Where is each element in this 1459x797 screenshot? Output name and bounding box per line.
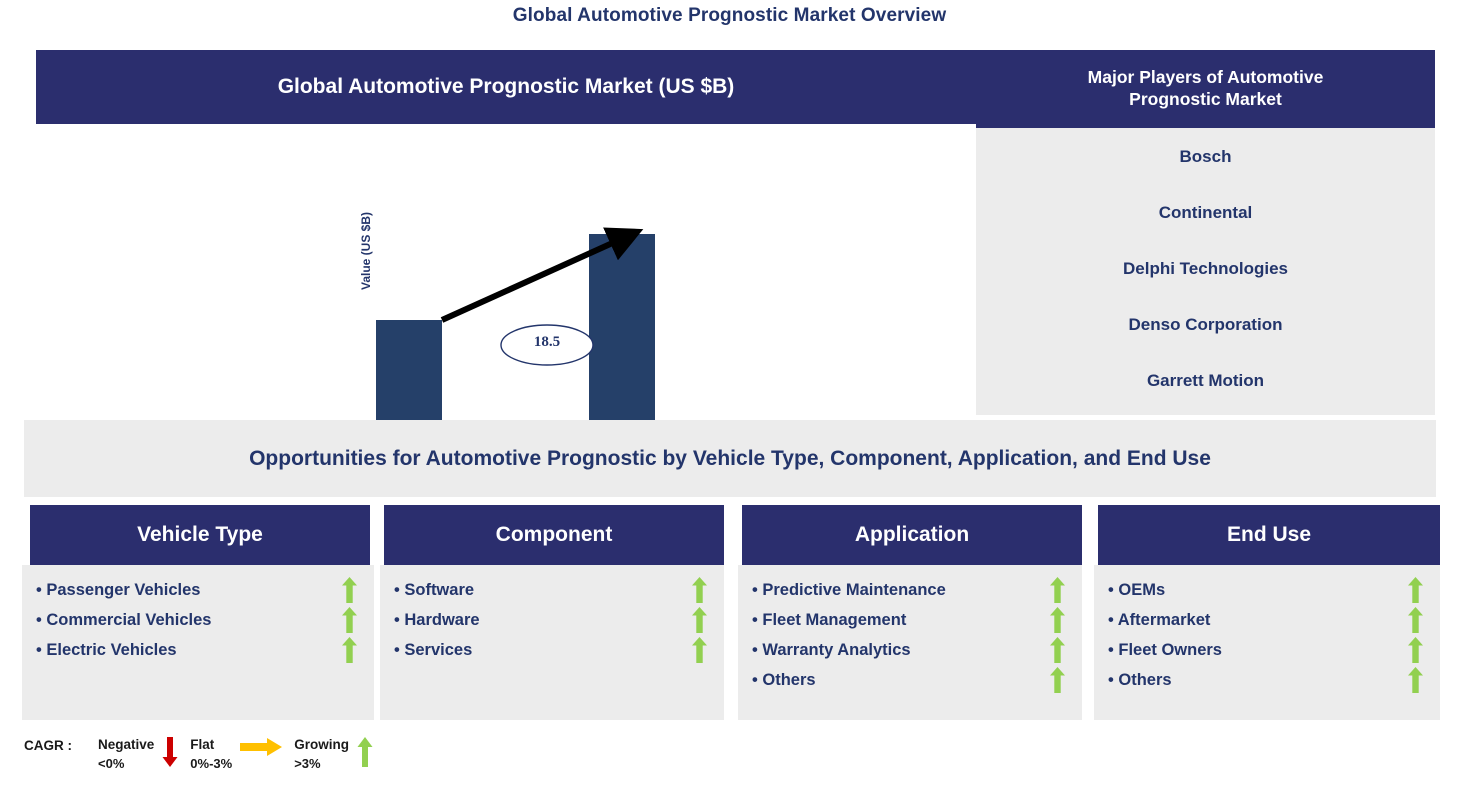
arrow-up-green-icon [1404, 607, 1426, 633]
legend-range-negative: <0% [98, 755, 154, 774]
category-cards: Vehicle Type • Passenger Vehicles • Comm… [0, 0, 1459, 797]
list-item: • Fleet Management [752, 607, 1068, 633]
arrow-up-green-icon [1046, 607, 1068, 633]
arrow-up-green-icon [1046, 637, 1068, 663]
list-item: • Electric Vehicles [36, 637, 360, 663]
card-header-end-use: End Use [1098, 505, 1440, 565]
arrow-up-green-icon [688, 577, 710, 603]
legend-range-growing: >3% [294, 755, 349, 774]
arrow-up-green-icon [688, 637, 710, 663]
list-item: • Others [752, 667, 1068, 693]
arrow-up-green-icon [338, 607, 360, 633]
arrow-up-green-icon [1046, 667, 1068, 693]
card-body-application: • Predictive Maintenance • Fleet Managem… [738, 565, 1082, 720]
card-body-component: • Software • Hardware • Services [380, 565, 724, 720]
legend-entry-negative: Negative <0% [98, 735, 178, 773]
list-item: • Services [394, 637, 710, 663]
card-item-label: • Hardware [394, 611, 480, 630]
list-item: • Commercial Vehicles [36, 607, 360, 633]
legend-name-flat: Flat [190, 735, 232, 755]
list-item: • Hardware [394, 607, 710, 633]
arrow-up-green-icon [1404, 577, 1426, 603]
card-body-vehicle-type: • Passenger Vehicles • Commercial Vehicl… [22, 565, 374, 720]
cagr-legend-title: CAGR : [24, 735, 72, 753]
arrow-up-green-icon [1046, 577, 1068, 603]
card-item-label: • Aftermarket [1108, 611, 1210, 630]
arrow-up-green-icon [1404, 637, 1426, 663]
card-item-label: • Services [394, 641, 472, 660]
cagr-legend: CAGR : Negative <0% Flat 0%-3% Growing >… [24, 735, 385, 785]
arrow-right-amber-icon [240, 735, 282, 757]
arrow-up-green-icon [357, 735, 373, 767]
list-item: • Predictive Maintenance [752, 577, 1068, 603]
card-item-label: • Others [752, 671, 816, 690]
card-item-label: • Passenger Vehicles [36, 581, 200, 600]
arrow-up-green-icon [688, 607, 710, 633]
card-item-label: • Fleet Owners [1108, 641, 1222, 660]
legend-entry-flat: Flat 0%-3% [190, 735, 282, 773]
arrow-down-red-icon [162, 735, 178, 767]
card-item-label: • Predictive Maintenance [752, 581, 946, 600]
list-item: • Passenger Vehicles [36, 577, 360, 603]
list-item: • OEMs [1108, 577, 1426, 603]
list-item: • Software [394, 577, 710, 603]
card-item-label: • Electric Vehicles [36, 641, 177, 660]
card-item-label: • Commercial Vehicles [36, 611, 211, 630]
legend-name-negative: Negative [98, 735, 154, 755]
arrow-up-green-icon [338, 577, 360, 603]
card-item-label: • Warranty Analytics [752, 641, 911, 660]
card-item-label: • Others [1108, 671, 1172, 690]
legend-name-growing: Growing [294, 735, 349, 755]
card-item-label: • Fleet Management [752, 611, 906, 630]
arrow-up-green-icon [1404, 667, 1426, 693]
list-item: • Warranty Analytics [752, 637, 1068, 663]
legend-range-flat: 0%-3% [190, 755, 232, 774]
list-item: • Fleet Owners [1108, 637, 1426, 663]
card-item-label: • OEMs [1108, 581, 1165, 600]
card-header-component: Component [384, 505, 724, 565]
card-item-label: • Software [394, 581, 474, 600]
list-item: • Aftermarket [1108, 607, 1426, 633]
card-header-vehicle-type: Vehicle Type [30, 505, 370, 565]
card-header-application: Application [742, 505, 1082, 565]
arrow-up-green-icon [338, 637, 360, 663]
card-body-end-use: • OEMs • Aftermarket • Fleet Owners • Ot… [1094, 565, 1440, 720]
list-item: • Others [1108, 667, 1426, 693]
legend-entry-growing: Growing >3% [294, 735, 373, 773]
